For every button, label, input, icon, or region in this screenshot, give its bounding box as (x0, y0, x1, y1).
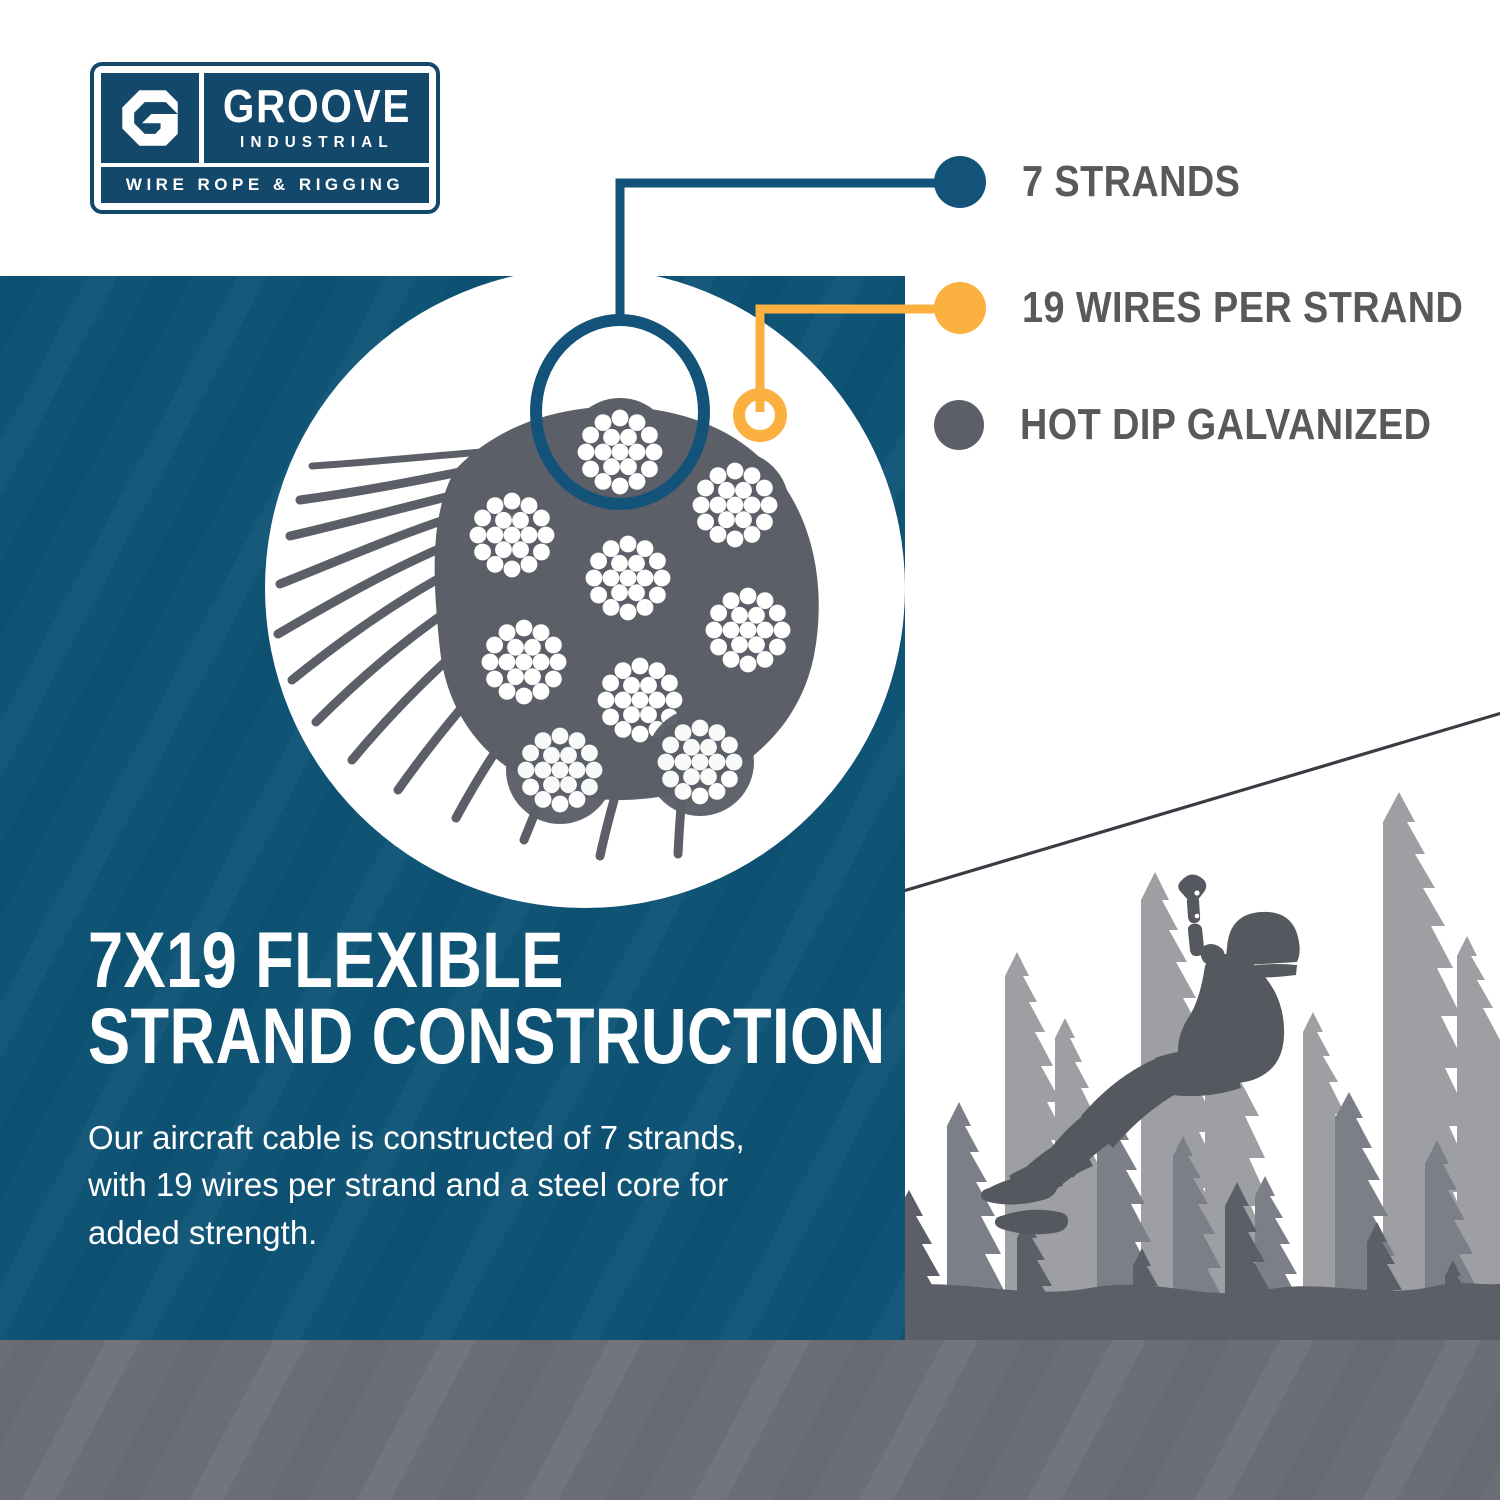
headline-line-2: STRAND CONSTRUCTION (88, 998, 720, 1074)
body-paragraph: Our aircraft cable is constructed of 7 s… (88, 1114, 748, 1257)
callout-dot-amber-icon (934, 282, 986, 334)
headline-block: 7X19 FLEXIBLE STRAND CONSTRUCTION Our ai… (88, 922, 878, 1256)
callout-dot-gray-icon (934, 400, 984, 450)
groove-g-mark-icon (101, 73, 199, 163)
callout-label: HOT DIP GALVANIZED (1020, 400, 1431, 450)
infographic-canvas: 7 STRANDS 19 WIRES PER STRAND HOT DIP GA… (0, 0, 1500, 1500)
page-title: 7X19 FLEXIBLE STRAND CONSTRUCTION (88, 922, 720, 1074)
callout-wires-per-strand[interactable]: 19 WIRES PER STRAND (934, 282, 1500, 334)
callout-dot-navy-icon (934, 156, 986, 208)
g-monogram-icon (117, 85, 183, 151)
callout-label: 7 STRANDS (1022, 157, 1240, 207)
band-stripe-texture (0, 1340, 1500, 1500)
brand-name: GROOVE (222, 84, 410, 128)
callout-label: 19 WIRES PER STRAND (1022, 283, 1463, 333)
brand-tagline: WIRE ROPE & RIGGING (126, 175, 404, 195)
illustration-circle-backdrop (265, 268, 905, 908)
brand-logo[interactable]: GROOVE INDUSTRIAL WIRE ROPE & RIGGING (90, 62, 440, 214)
brand-subname: INDUSTRIAL (240, 134, 394, 152)
bottom-gray-band (0, 1340, 1500, 1500)
callout-galvanized[interactable]: HOT DIP GALVANIZED (934, 400, 1498, 450)
callout-strands[interactable]: 7 STRANDS (934, 156, 1276, 208)
